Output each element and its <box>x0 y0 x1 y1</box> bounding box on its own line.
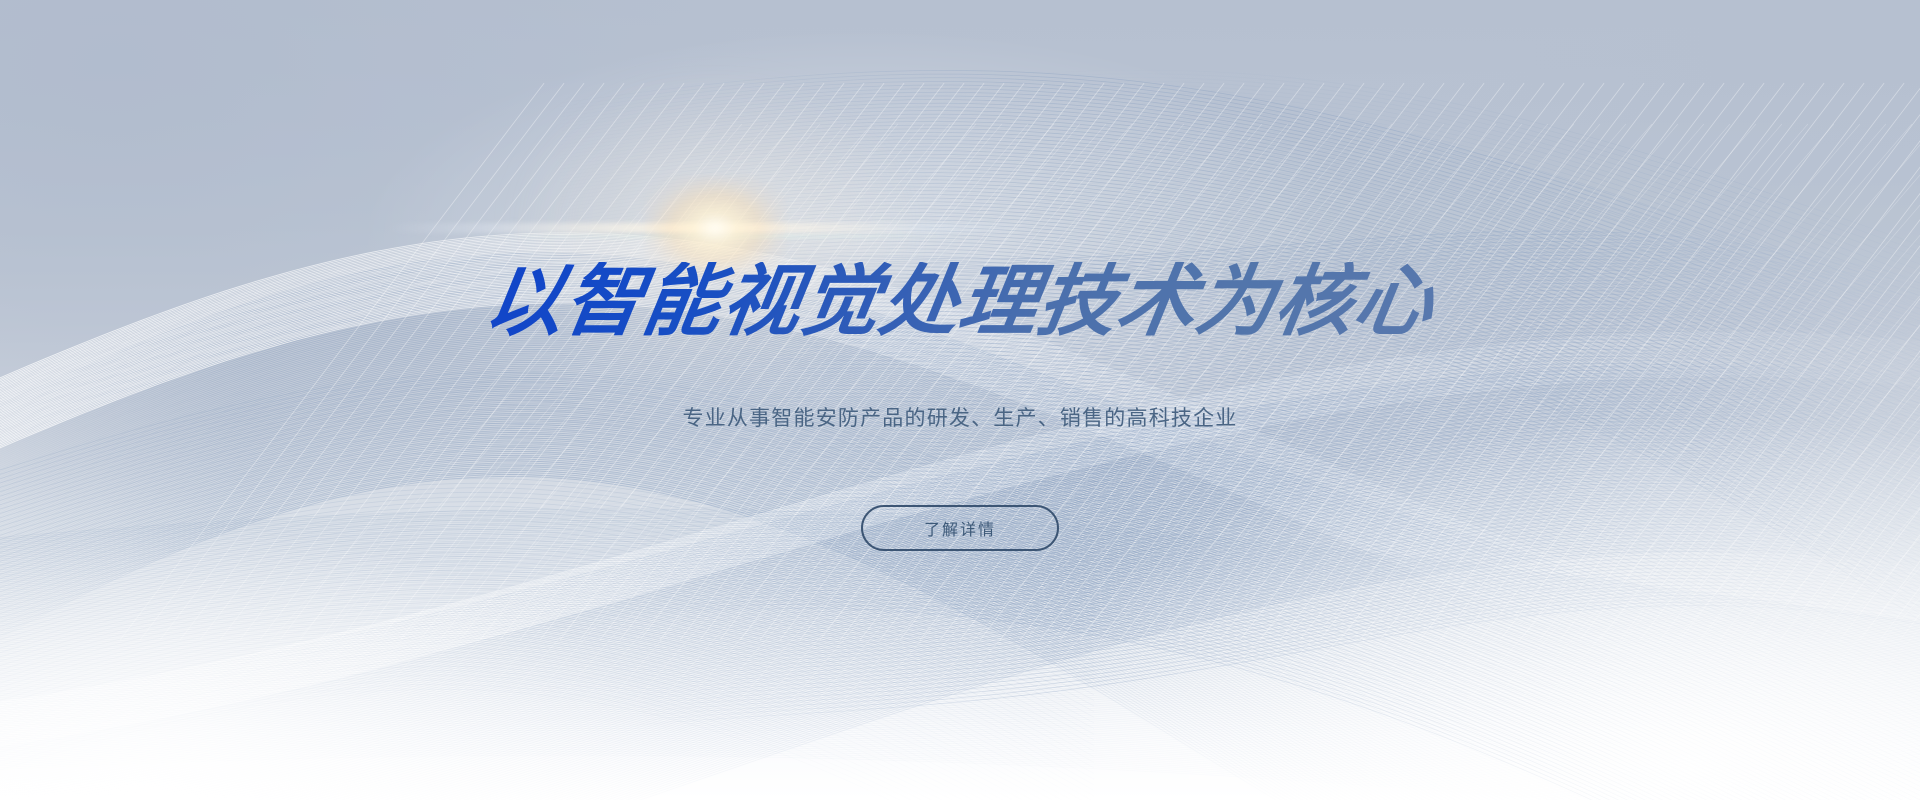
learn-more-button[interactable]: 了解详情 <box>861 505 1059 551</box>
wave-ribbons-decoration <box>0 0 1920 800</box>
hero-banner: 以智能视觉处理技术为核心 专业从事智能安防产品的研发、生产、销售的高科技企业 了… <box>0 0 1920 800</box>
